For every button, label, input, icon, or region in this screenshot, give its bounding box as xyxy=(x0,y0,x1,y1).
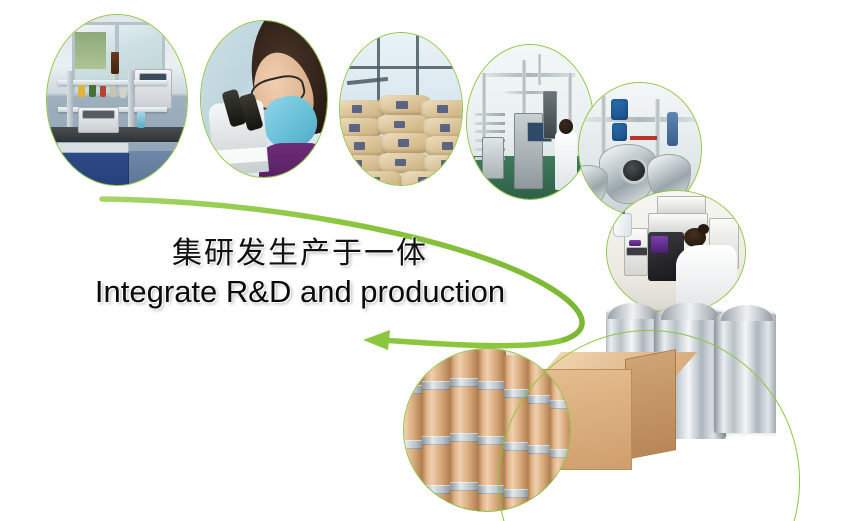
production-machine-photo xyxy=(467,45,593,199)
sacks-photo xyxy=(340,33,462,185)
foil-bag xyxy=(714,313,776,433)
bubble-fiber-drums xyxy=(403,348,571,512)
company-capability-banner: 集研发生产于一体 Integrate R&D and production xyxy=(0,0,846,521)
bubble-microscope xyxy=(200,20,328,178)
caption-block: 集研发生产于一体 Integrate R&D and production xyxy=(60,228,540,310)
hplc-photo xyxy=(607,191,745,313)
caption-chinese: 集研发生产于一体 xyxy=(60,228,540,272)
arrow-head xyxy=(363,330,390,350)
caption-english: Integrate R&D and production xyxy=(60,274,540,310)
carton-side-face xyxy=(625,350,676,461)
microscope-photo xyxy=(201,21,327,177)
bubble-production-machine xyxy=(466,44,594,200)
bubble-raw-material-sacks xyxy=(339,32,463,186)
laboratory-photo xyxy=(47,15,187,185)
bubble-laboratory xyxy=(46,14,188,186)
bubble-hplc-analyst xyxy=(606,190,746,314)
drums-photo xyxy=(404,349,570,511)
